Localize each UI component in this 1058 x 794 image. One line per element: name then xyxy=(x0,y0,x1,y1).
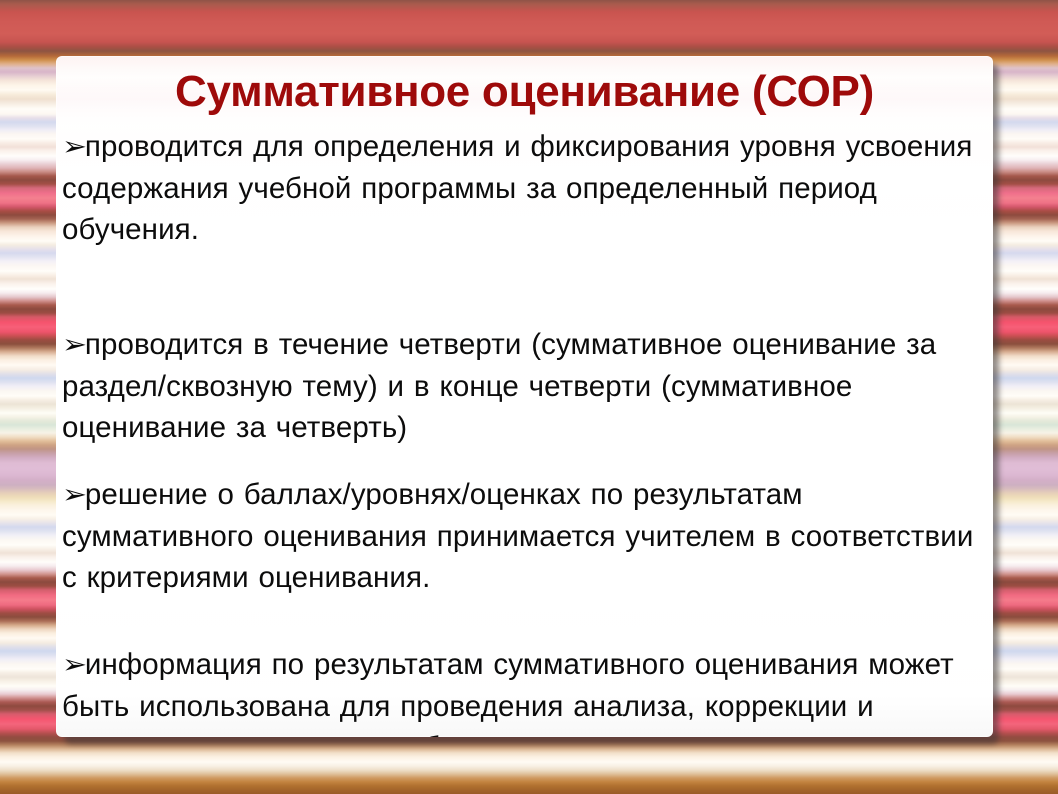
bullet-list: ➢проводится для определения и фиксирован… xyxy=(62,126,979,729)
page-title: Суммативное оценивание (СОР) xyxy=(56,66,993,118)
list-item: ➢проводится в течение четверти (сумматив… xyxy=(62,324,979,449)
list-item-text: проводится в течение четверти (суммативн… xyxy=(62,328,936,444)
arrowhead-bullet-icon: ➢ xyxy=(62,652,87,678)
list-item: ➢информация по результатам суммативного … xyxy=(62,644,979,737)
list-item: ➢решение о баллах/уровнях/оценках по рез… xyxy=(62,474,979,599)
arrowhead-bullet-icon: ➢ xyxy=(62,482,87,508)
content-panel: Суммативное оценивание (СОР) ➢проводится… xyxy=(56,56,993,737)
list-item: ➢проводится для определения и фиксирован… xyxy=(62,126,979,251)
list-item-text: решение о баллах/уровнях/оценках по резу… xyxy=(62,478,973,594)
list-item-text: информация по результатам суммативного о… xyxy=(62,648,954,737)
presentation-slide: Суммативное оценивание (СОР) ➢проводится… xyxy=(0,0,1058,794)
list-item-text: проводится для определения и фиксировани… xyxy=(62,130,972,246)
arrowhead-bullet-icon: ➢ xyxy=(62,134,87,160)
arrowhead-bullet-icon: ➢ xyxy=(62,332,87,358)
